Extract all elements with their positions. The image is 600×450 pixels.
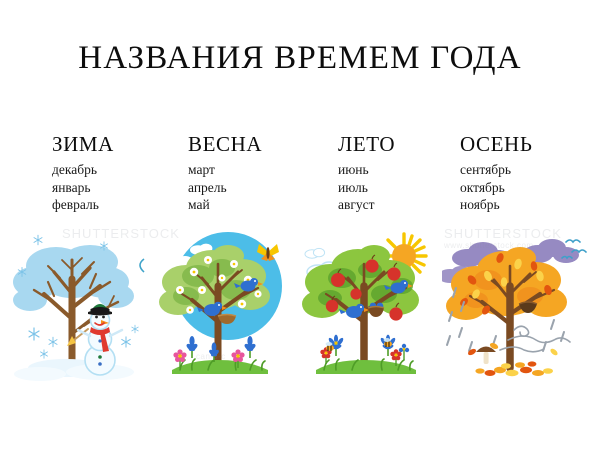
winter-tree-scene (4, 224, 154, 389)
illustration-row (0, 224, 600, 389)
season-title-summer: ЛЕТО (338, 132, 395, 156)
month-label: март (188, 161, 262, 179)
poster-canvas: НАЗВАНИЯ ВРЕМЕМ ГОДА ЗИМА декабрь январь… (0, 0, 600, 450)
page-title: НАЗВАНИЯ ВРЕМЕМ ГОДА (0, 40, 600, 77)
season-column-summer: ЛЕТО июнь июль август (338, 132, 395, 214)
snow-mound-icon (14, 359, 134, 381)
month-label: январь (52, 179, 114, 197)
grass-icon (172, 359, 268, 374)
wind-icon (140, 259, 144, 272)
spring-tree-scene (150, 224, 300, 389)
month-label: февраль (52, 196, 114, 214)
nest-with-chicks-icon (368, 303, 384, 317)
month-label: ноябрь (460, 196, 532, 214)
month-label: июнь (338, 161, 395, 179)
month-label: апрель (188, 179, 262, 197)
month-label: сентябрь (460, 161, 532, 179)
season-column-autumn: ОСЕНЬ сентябрь октябрь ноябрь (460, 132, 532, 214)
autumn-tree-scene (442, 224, 592, 389)
month-label: октябрь (460, 179, 532, 197)
season-title-autumn: ОСЕНЬ (460, 132, 532, 156)
month-label: май (188, 196, 262, 214)
summer-tree-scene (296, 224, 446, 389)
season-column-spring: ВЕСНА март апрель май (188, 132, 262, 214)
month-label: декабрь (52, 161, 114, 179)
mushroom-icon (476, 347, 496, 365)
month-label: июль (338, 179, 395, 197)
season-column-winter: ЗИМА декабрь январь февраль (52, 132, 114, 214)
season-labels-row: ЗИМА декабрь январь февраль ВЕСНА март а… (0, 132, 600, 227)
season-title-winter: ЗИМА (52, 132, 114, 156)
grass-icon (316, 359, 416, 374)
season-title-spring: ВЕСНА (188, 132, 262, 156)
month-label: август (338, 196, 395, 214)
